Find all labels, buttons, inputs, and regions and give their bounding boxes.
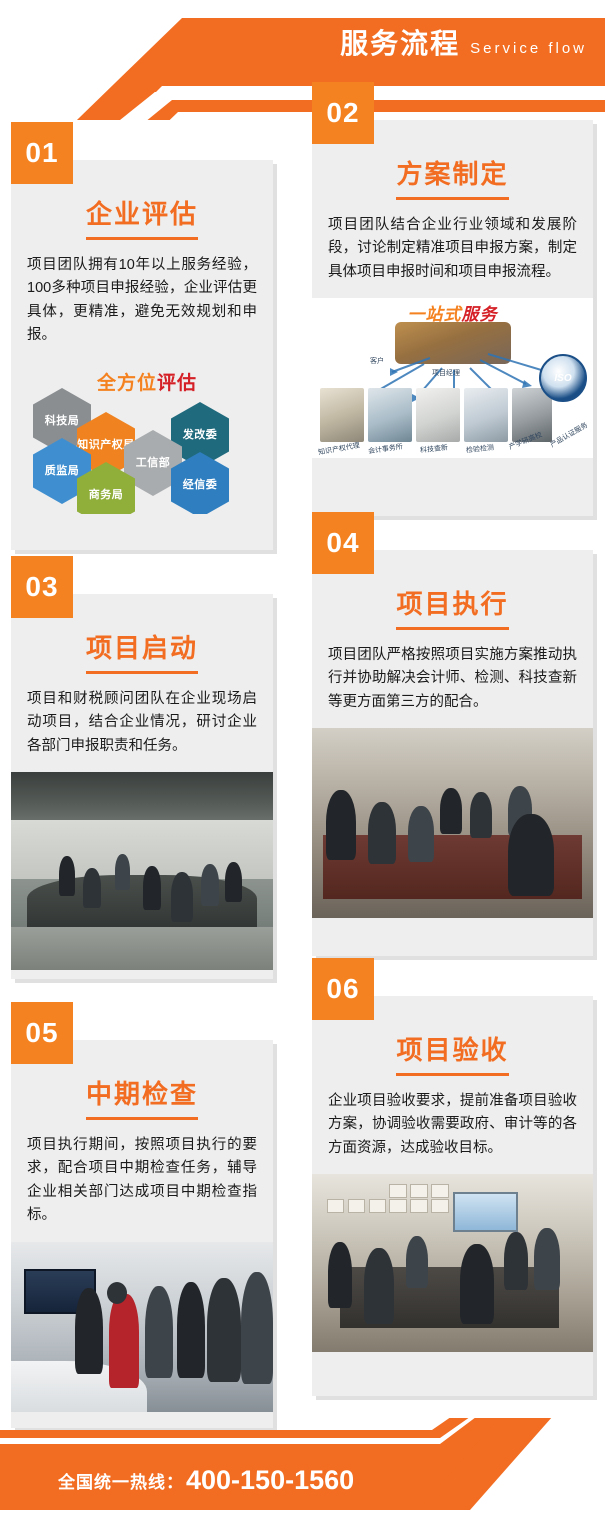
card-03-number: 03	[11, 556, 73, 618]
one-stop-thumb-3	[464, 388, 508, 442]
card-05[interactable]: 05 中期检查 项目执行期间，按照项目执行的要求，配合项目中期检查任务，辅导企业…	[11, 1040, 273, 1428]
one-stop-title-part2: 服务	[462, 305, 498, 324]
one-stop-client-label: 客户	[370, 356, 384, 366]
photo-boardroom-review	[312, 1174, 593, 1352]
card-02-number: 02	[312, 82, 374, 144]
hex-diagram: 全方位评估 科技局 知识产权局 发改委 质监局 工信部 商务局 经信委	[11, 362, 273, 514]
one-stop-thumb-2	[416, 388, 460, 442]
one-stop-thumb-0	[320, 388, 364, 442]
card-05-body: 项目执行期间，按照项目执行的要求，配合项目中期检查任务，辅导企业相关部门达成项目…	[11, 1120, 273, 1242]
header-ribbon-shape	[0, 0, 605, 120]
card-04-title: 项目执行	[396, 584, 508, 630]
card-01[interactable]: 01 企业评估 项目团队拥有10年以上服务经验，100多种项目申报经验，企业评估…	[11, 160, 273, 550]
header-title-en: Service flow	[470, 41, 587, 56]
card-01-body: 项目团队拥有10年以上服务经验，100多种项目申报经验，企业评估更具体，更精准，…	[11, 240, 273, 362]
card-04-number: 04	[312, 512, 374, 574]
footer-hotline-group: 全国统一热线： 400-150-1560	[58, 1465, 354, 1496]
header-title-cn: 服务流程	[340, 30, 460, 58]
card-06-number: 06	[312, 958, 374, 1020]
one-stop-diagram: 一站式服务 客户	[312, 298, 593, 458]
hex-diagram-title: 全方位评估	[97, 368, 197, 395]
card-02-title: 方案制定	[396, 154, 508, 200]
card-03[interactable]: 03 项目启动 项目和财税顾问团队在企业现场启动项目，结合企业情况，研讨企业各部…	[11, 594, 273, 979]
card-03-body: 项目和财税顾问团队在企业现场启动项目，结合企业情况，研讨企业各部门申报职责和任务…	[11, 674, 273, 772]
card-04-body: 项目团队严格按照项目实施方案推动执行并协助解决会计师、检测、科技查新等更方面第三…	[312, 630, 593, 728]
one-stop-center-label: 项目经理	[432, 368, 460, 378]
footer-banner: 全国统一热线： 400-150-1560	[0, 1418, 605, 1538]
one-stop-thumb-1	[368, 388, 412, 442]
card-06-title: 项目验收	[396, 1030, 508, 1076]
card-01-number: 01	[11, 122, 73, 184]
card-05-title: 中期检查	[86, 1074, 198, 1120]
hex-title-part1: 全方位	[97, 373, 157, 394]
card-06-body: 企业项目验收要求，提前准备项目验收方案，协调验收需要政府、审计等的各方面资源，达…	[312, 1076, 593, 1174]
service-flow-infographic: 服务流程 Service flow 01 企业评估 项目团队拥有10年以上服务经…	[0, 0, 605, 1538]
photo-conference-room	[11, 772, 273, 970]
card-02[interactable]: 02 方案制定 项目团队结合企业行业领域和发展阶段，讨论制定精准项目申报方案，制…	[312, 120, 593, 516]
card-03-title: 项目启动	[86, 628, 198, 674]
card-02-body: 项目团队结合企业行业领域和发展阶段，讨论制定精准项目申报方案，制定具体项目申报时…	[312, 200, 593, 298]
card-05-number: 05	[11, 1002, 73, 1064]
photo-showroom-visit	[11, 1242, 273, 1412]
card-04[interactable]: 04 项目执行 项目团队严格按照项目实施方案推动执行并协助解决会计师、检测、科技…	[312, 550, 593, 956]
photo-meeting-laptops	[312, 728, 593, 918]
footer-hotline-number: 400-150-1560	[186, 1465, 354, 1496]
header-banner: 服务流程 Service flow	[0, 0, 605, 120]
one-stop-title: 一站式服务	[408, 300, 498, 325]
card-01-title: 企业评估	[86, 194, 198, 240]
footer-hotline-label: 全国统一热线：	[58, 1468, 184, 1493]
card-06[interactable]: 06 项目验收 企业项目验收要求，提前准备项目验收方案，协调验收需要政府、审计等…	[312, 996, 593, 1396]
header-title-group: 服务流程 Service flow	[340, 30, 587, 58]
hex-title-part2: 评估	[157, 373, 197, 394]
one-stop-title-part1: 一站式	[408, 305, 462, 324]
